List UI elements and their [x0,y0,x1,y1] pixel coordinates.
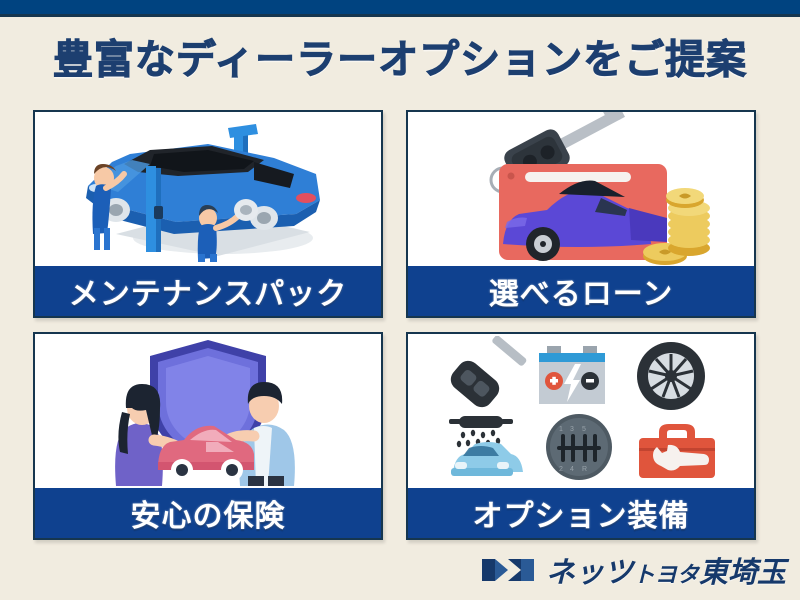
card-maintenance-pack[interactable]: メンテナンスパック [33,110,383,318]
card-label-maintenance-pack: メンテナンスパック [35,266,381,316]
card-art-insurance [35,334,381,488]
car-key-card-coins-illustration [441,112,721,266]
tool-box-icon [639,424,715,478]
card-label-option-equipment: オプション装備 [408,488,754,538]
option-card-grid: メンテナンスパック [33,110,767,540]
svg-text:1: 1 [559,426,563,433]
card-art-maintenance [35,112,381,266]
card-art-loan [408,112,754,266]
netz-n-mark-icon [482,555,534,585]
svg-text:2: 2 [559,466,563,473]
top-accent-bar [0,0,800,14]
page-root: 豊富なディーラーオプションをご提案 [0,0,800,600]
svg-text:5: 5 [582,426,586,433]
logo-text-toyota: トヨタ [633,562,699,587]
key-fob-icon [446,336,527,412]
svg-text:4: 4 [570,466,574,473]
car-battery-icon [539,346,605,404]
car-on-lift-illustration [58,114,358,264]
option-equipment-icon-grid: 135 24R [431,336,731,486]
logo-text-netz: ネッツ [546,557,633,589]
card-option-equipment[interactable]: 135 24R オプション装備 [406,332,756,540]
card-label-insurance: 安心の保険 [35,488,381,538]
page-title: 豊富なディーラーオプションをご提案 [0,24,800,88]
svg-text:3: 3 [570,426,574,433]
car-wash-icon [449,416,523,476]
logo-text-higashisaitama: 東埼玉 [699,557,786,589]
gear-shift-icon: 135 24R [546,414,612,480]
top-accent-underline [0,14,800,17]
shield-people-car-illustration [58,336,358,486]
card-art-option-equipment: 135 24R [408,334,754,488]
footer-brand: ネッツトヨタ東埼玉 [0,548,800,592]
card-label-loan: 選べるローン [408,266,754,316]
svg-text:R: R [582,466,587,473]
card-loan[interactable]: 選べるローン [406,110,756,318]
footer-logo-text: ネッツトヨタ東埼玉 [546,549,786,591]
card-insurance[interactable]: 安心の保険 [33,332,383,540]
tire-wheel-icon [637,342,705,410]
